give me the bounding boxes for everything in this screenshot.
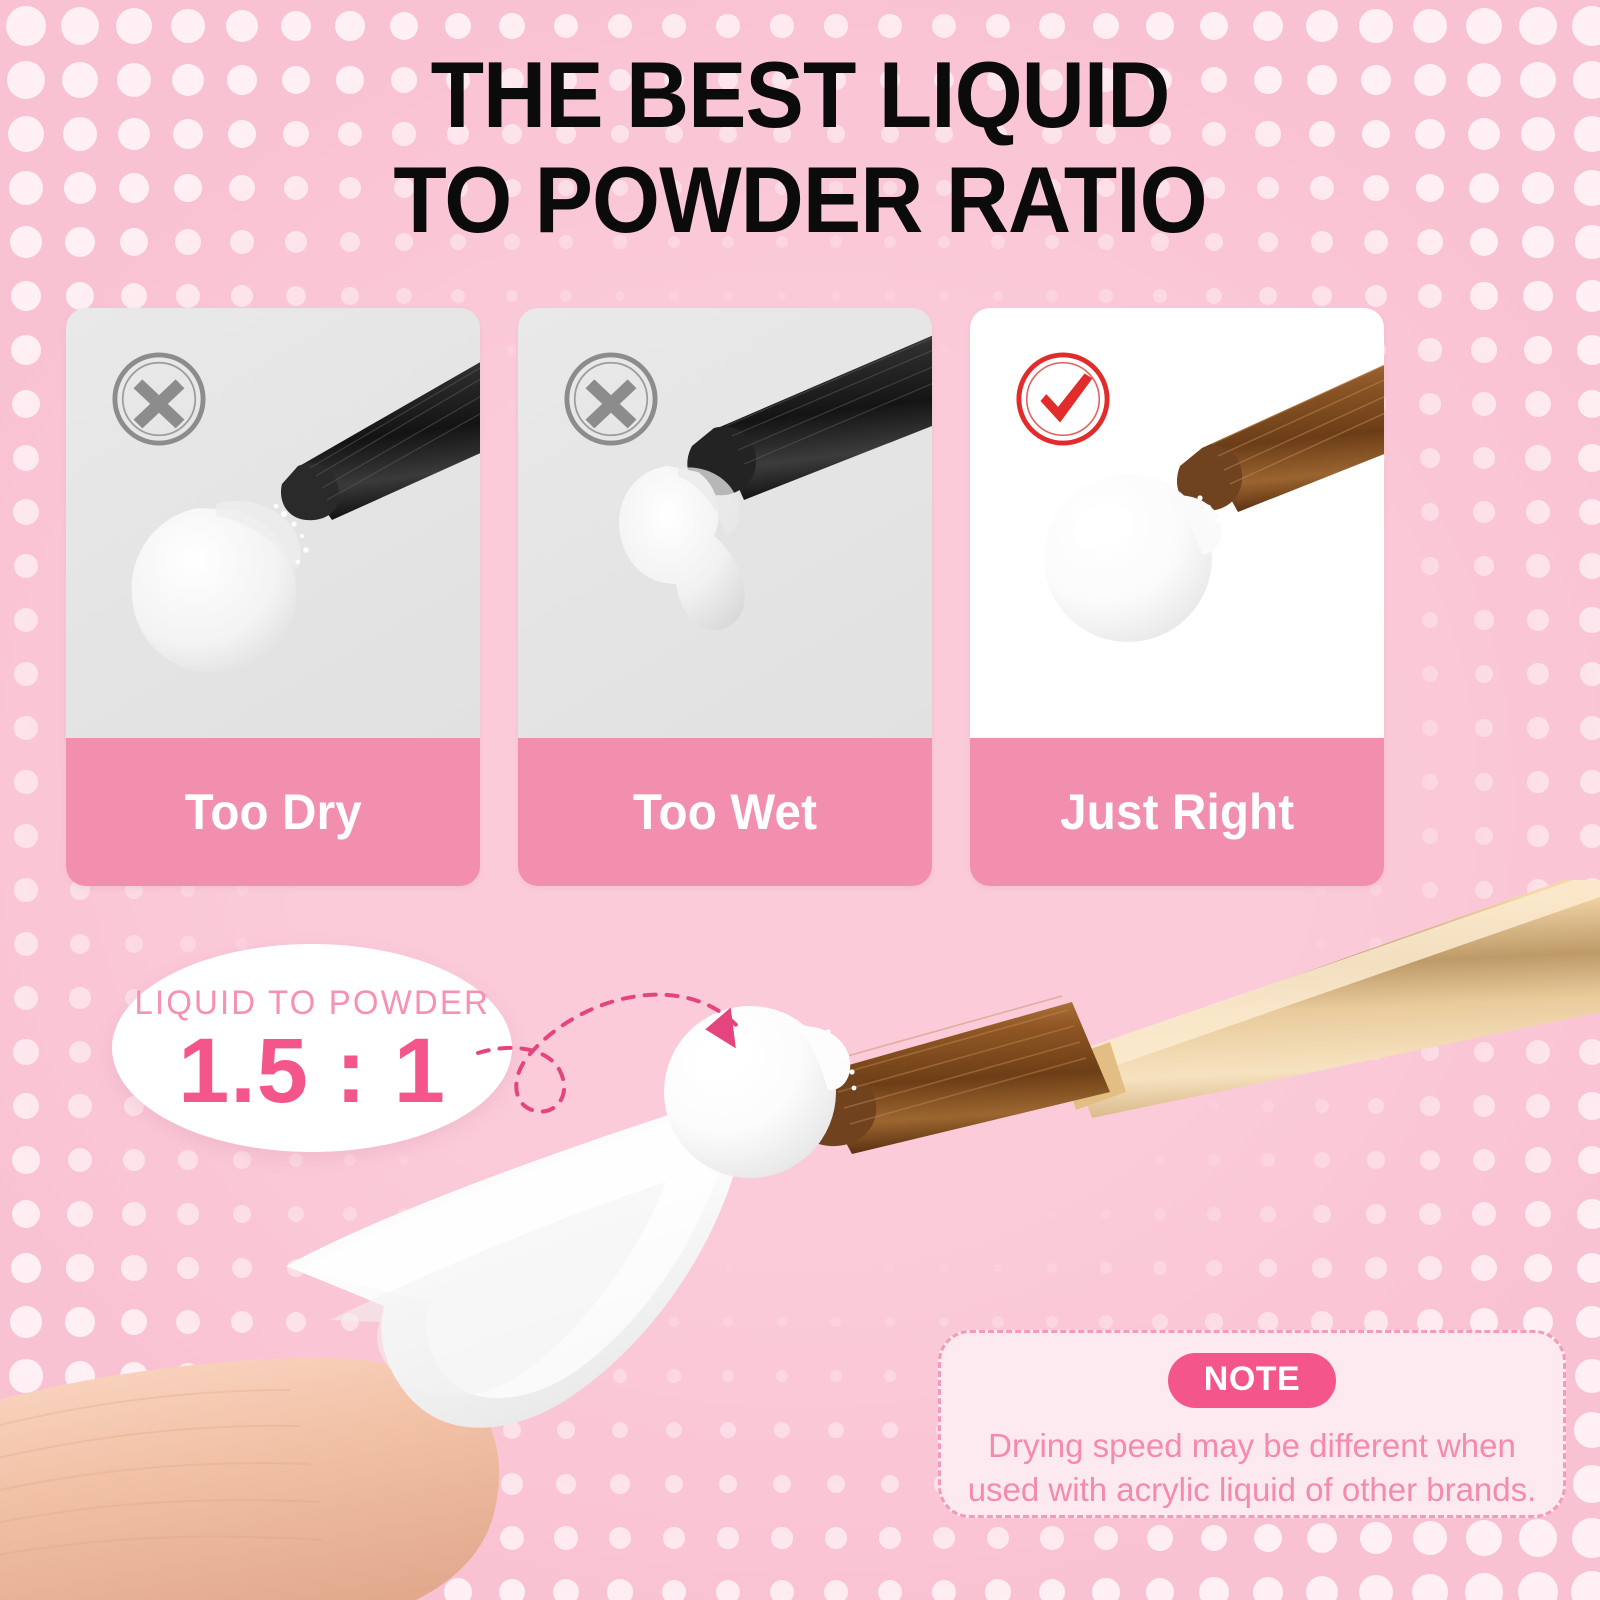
title-line-1: THE BEST LIQUID — [56, 42, 1544, 147]
ratio-badge: LIQUID TO POWDER 1.5 : 1 — [112, 944, 512, 1152]
note-badge: NOTE — [1168, 1353, 1336, 1408]
note-line-1: Drying speed may be different when — [968, 1424, 1537, 1468]
card-too-wet-footer: Too Wet — [518, 738, 932, 886]
just-right-brush-illustration — [970, 308, 1384, 738]
card-too-dry-photo — [66, 308, 480, 738]
note-line-2: used with acrylic liquid of other brands… — [968, 1468, 1537, 1512]
page-title: THE BEST LIQUID TO POWDER RATIO — [56, 42, 1544, 253]
card-too-dry-label: Too Dry — [184, 783, 361, 841]
note-box: NOTE Drying speed may be different when … — [938, 1330, 1566, 1518]
card-just-right-photo — [970, 308, 1384, 738]
card-too-dry-footer: Too Dry — [66, 738, 480, 886]
ratio-value: 1.5 : 1 — [178, 1025, 446, 1117]
note-text: Drying speed may be different when used … — [968, 1424, 1537, 1511]
card-too-wet[interactable]: Too Wet — [518, 308, 932, 886]
too-wet-brush-illustration — [518, 308, 932, 738]
card-too-dry[interactable]: Too Dry — [66, 308, 480, 886]
card-just-right-label: Just Right — [1060, 783, 1294, 841]
too-dry-brush-illustration — [66, 308, 480, 738]
infographic-canvas: THE BEST LIQUID TO POWDER RATIO — [0, 0, 1600, 1600]
card-too-wet-label: Too Wet — [633, 783, 817, 841]
curved-dashed-arrow-icon — [470, 935, 800, 1145]
card-too-wet-photo — [518, 308, 932, 738]
comparison-card-row: Too Dry — [66, 308, 1534, 886]
ratio-caption: LIQUID TO POWDER — [134, 984, 489, 1023]
card-just-right[interactable]: Just Right — [970, 308, 1384, 886]
title-line-2: TO POWDER RATIO — [56, 147, 1544, 252]
card-just-right-footer: Just Right — [970, 738, 1384, 886]
